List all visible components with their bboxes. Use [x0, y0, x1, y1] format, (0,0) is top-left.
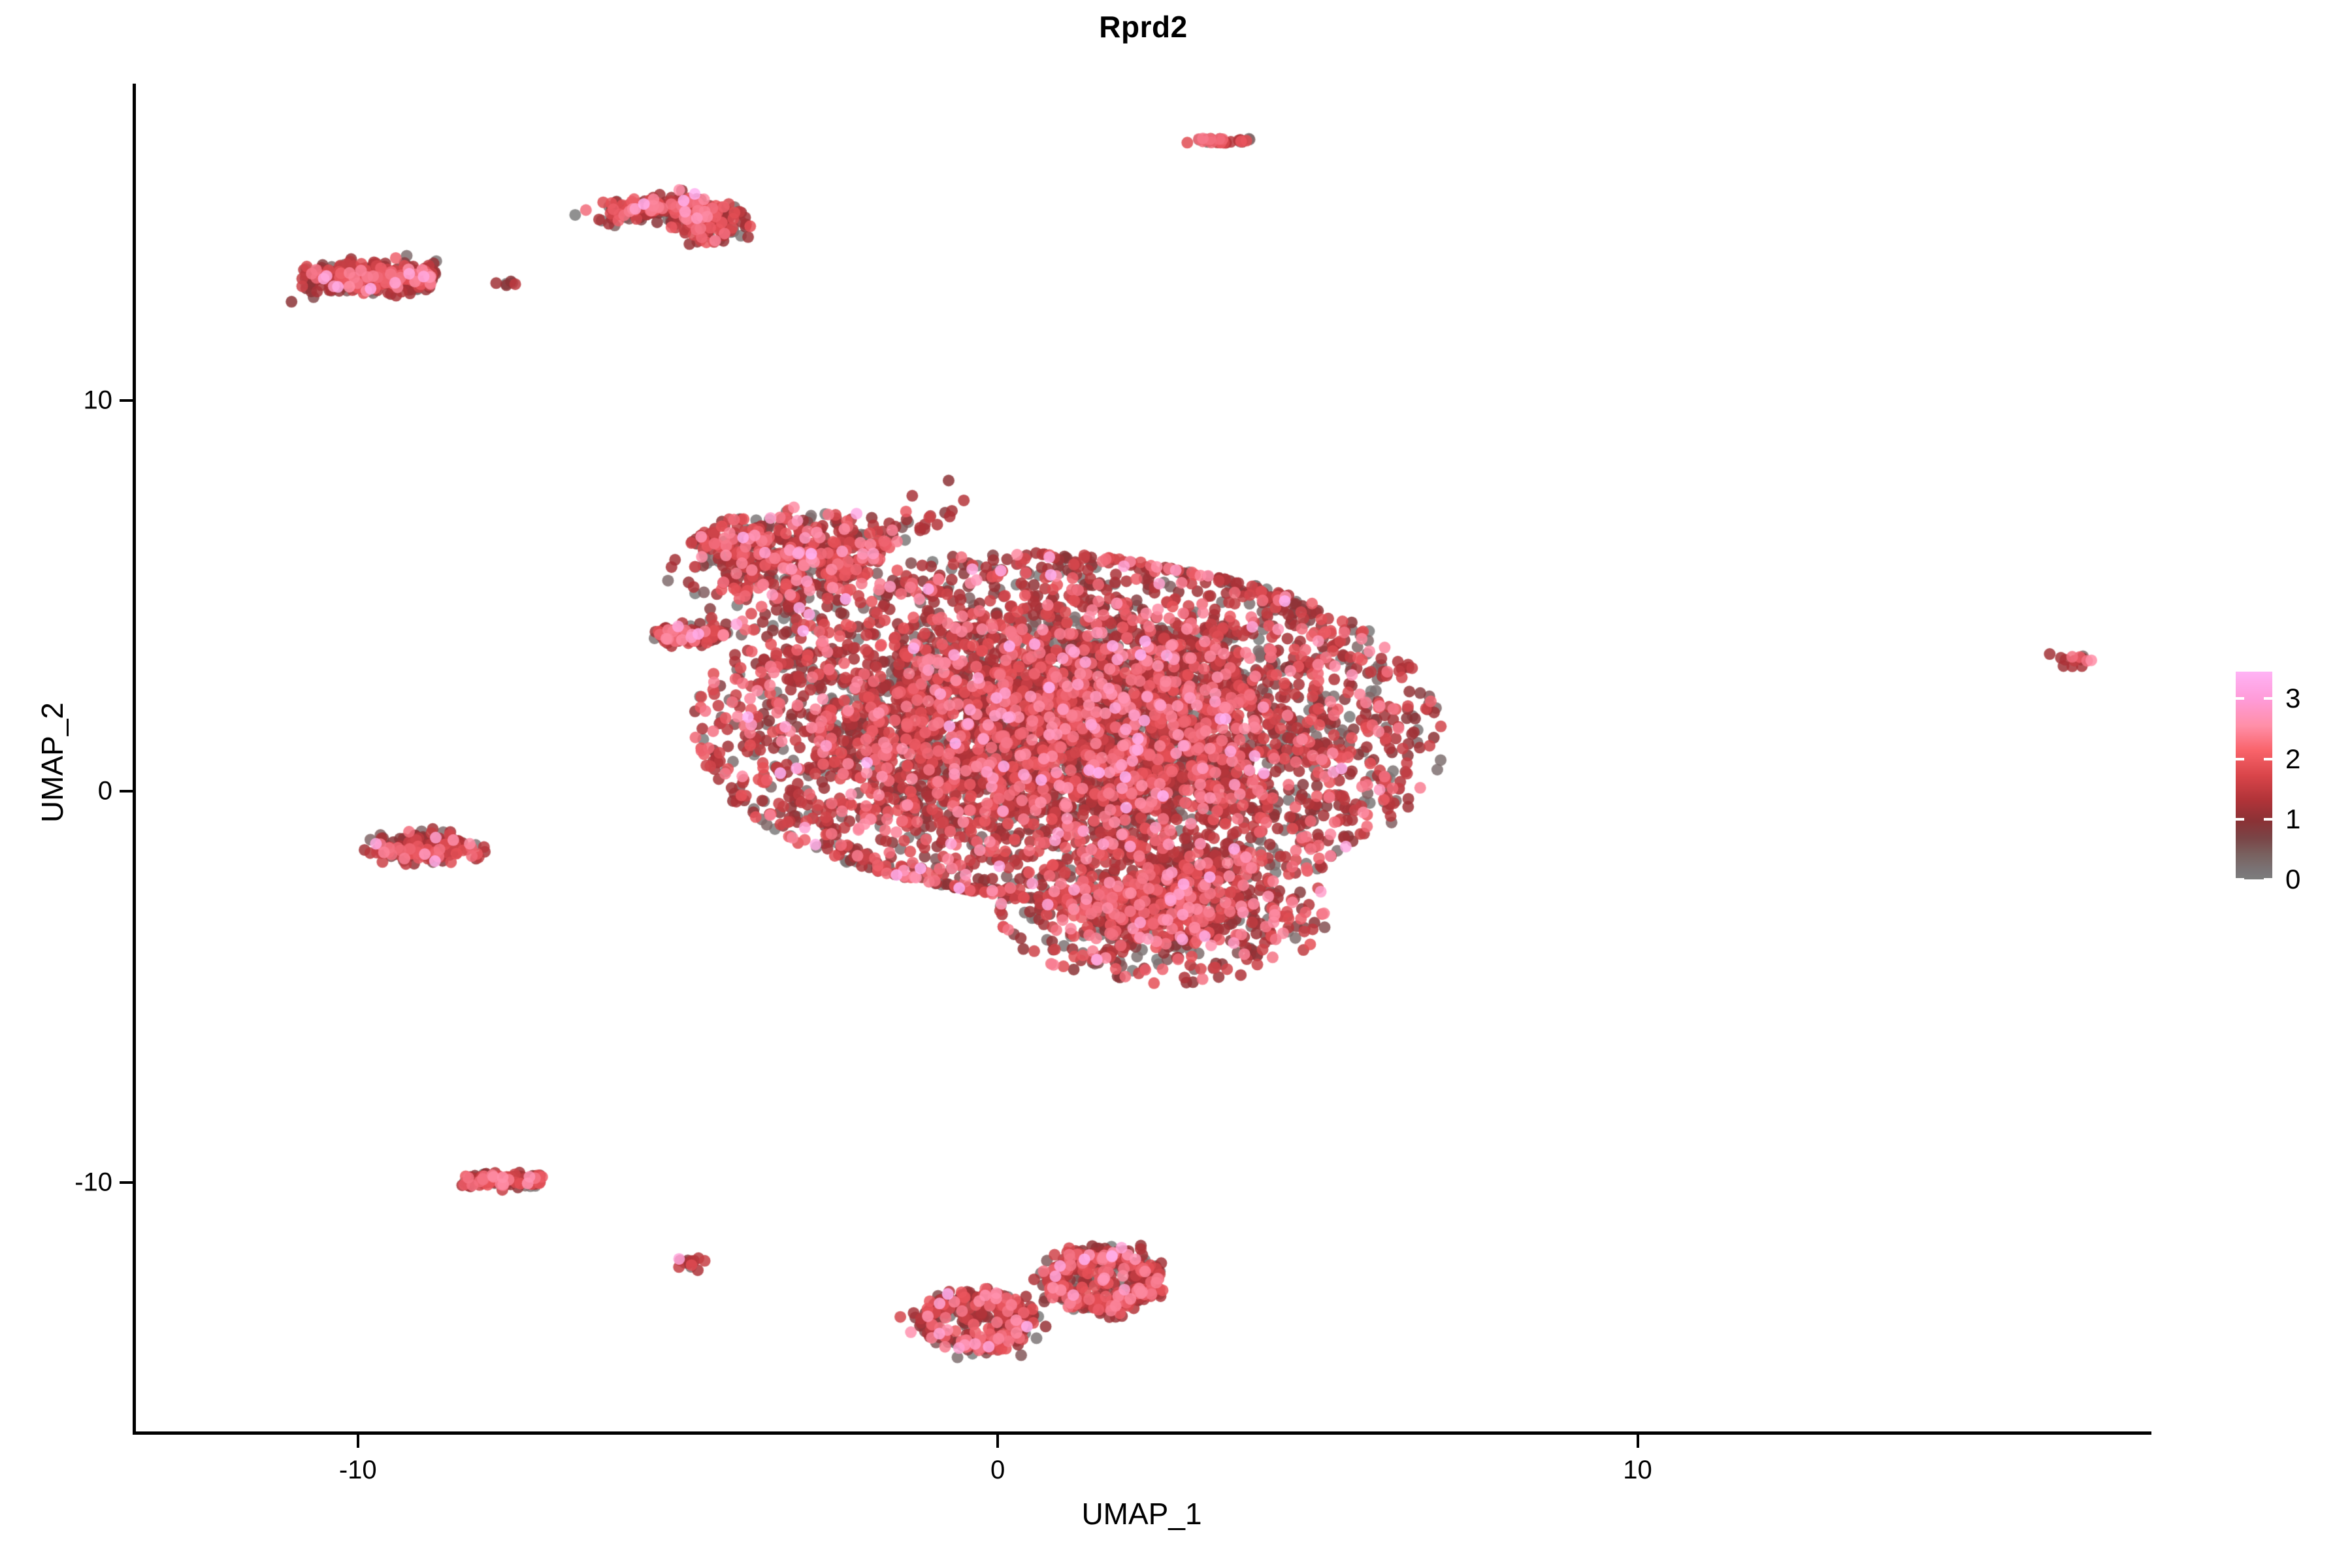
plot-panel [134, 84, 2149, 1433]
legend-tick-mark [2236, 758, 2244, 760]
y-tick-label: -10 [0, 1168, 112, 1197]
y-tick-mark [120, 1181, 133, 1184]
x-tick-label: -10 [339, 1456, 377, 1485]
x-axis-title: UMAP_1 [134, 1496, 2149, 1531]
color-legend: 3210 [2236, 672, 2340, 887]
legend-tick-mark [2236, 818, 2244, 821]
x-tick-mark [996, 1435, 999, 1448]
legend-tick-label: 3 [2285, 683, 2300, 714]
legend-tick-mark [2236, 697, 2244, 700]
y-axis-line [133, 84, 136, 1434]
y-tick-mark [120, 399, 133, 402]
y-axis-title: UMAP_2 [35, 403, 70, 1122]
legend-tick-label: 0 [2285, 864, 2300, 895]
x-tick-mark [1637, 1435, 1639, 1448]
legend-tick-mark [2264, 878, 2272, 881]
y-tick-mark [120, 790, 133, 792]
plot-title-text: Rprd2 [1099, 9, 1187, 44]
x-tick-label: 10 [1623, 1456, 1652, 1485]
legend-tick-label: 1 [2285, 804, 2300, 835]
legend-tick-mark [2264, 818, 2272, 821]
legend-tick-mark [2264, 758, 2272, 760]
legend-tick-mark [2264, 697, 2272, 700]
x-axis-line [133, 1431, 2151, 1435]
page-title: Rprd2 [0, 9, 2352, 44]
legend-tick-mark [2236, 878, 2244, 881]
scatter-points-canvas [134, 84, 2149, 1433]
x-tick-label: 0 [990, 1456, 1005, 1485]
legend-tick-label: 2 [2285, 743, 2300, 775]
legend-colorbar [2236, 672, 2272, 879]
x-tick-mark [357, 1435, 359, 1448]
umap-feature-plot: Rprd2 -10010 100-10 UMAP_1 UMAP_2 3210 [0, 0, 2352, 1568]
